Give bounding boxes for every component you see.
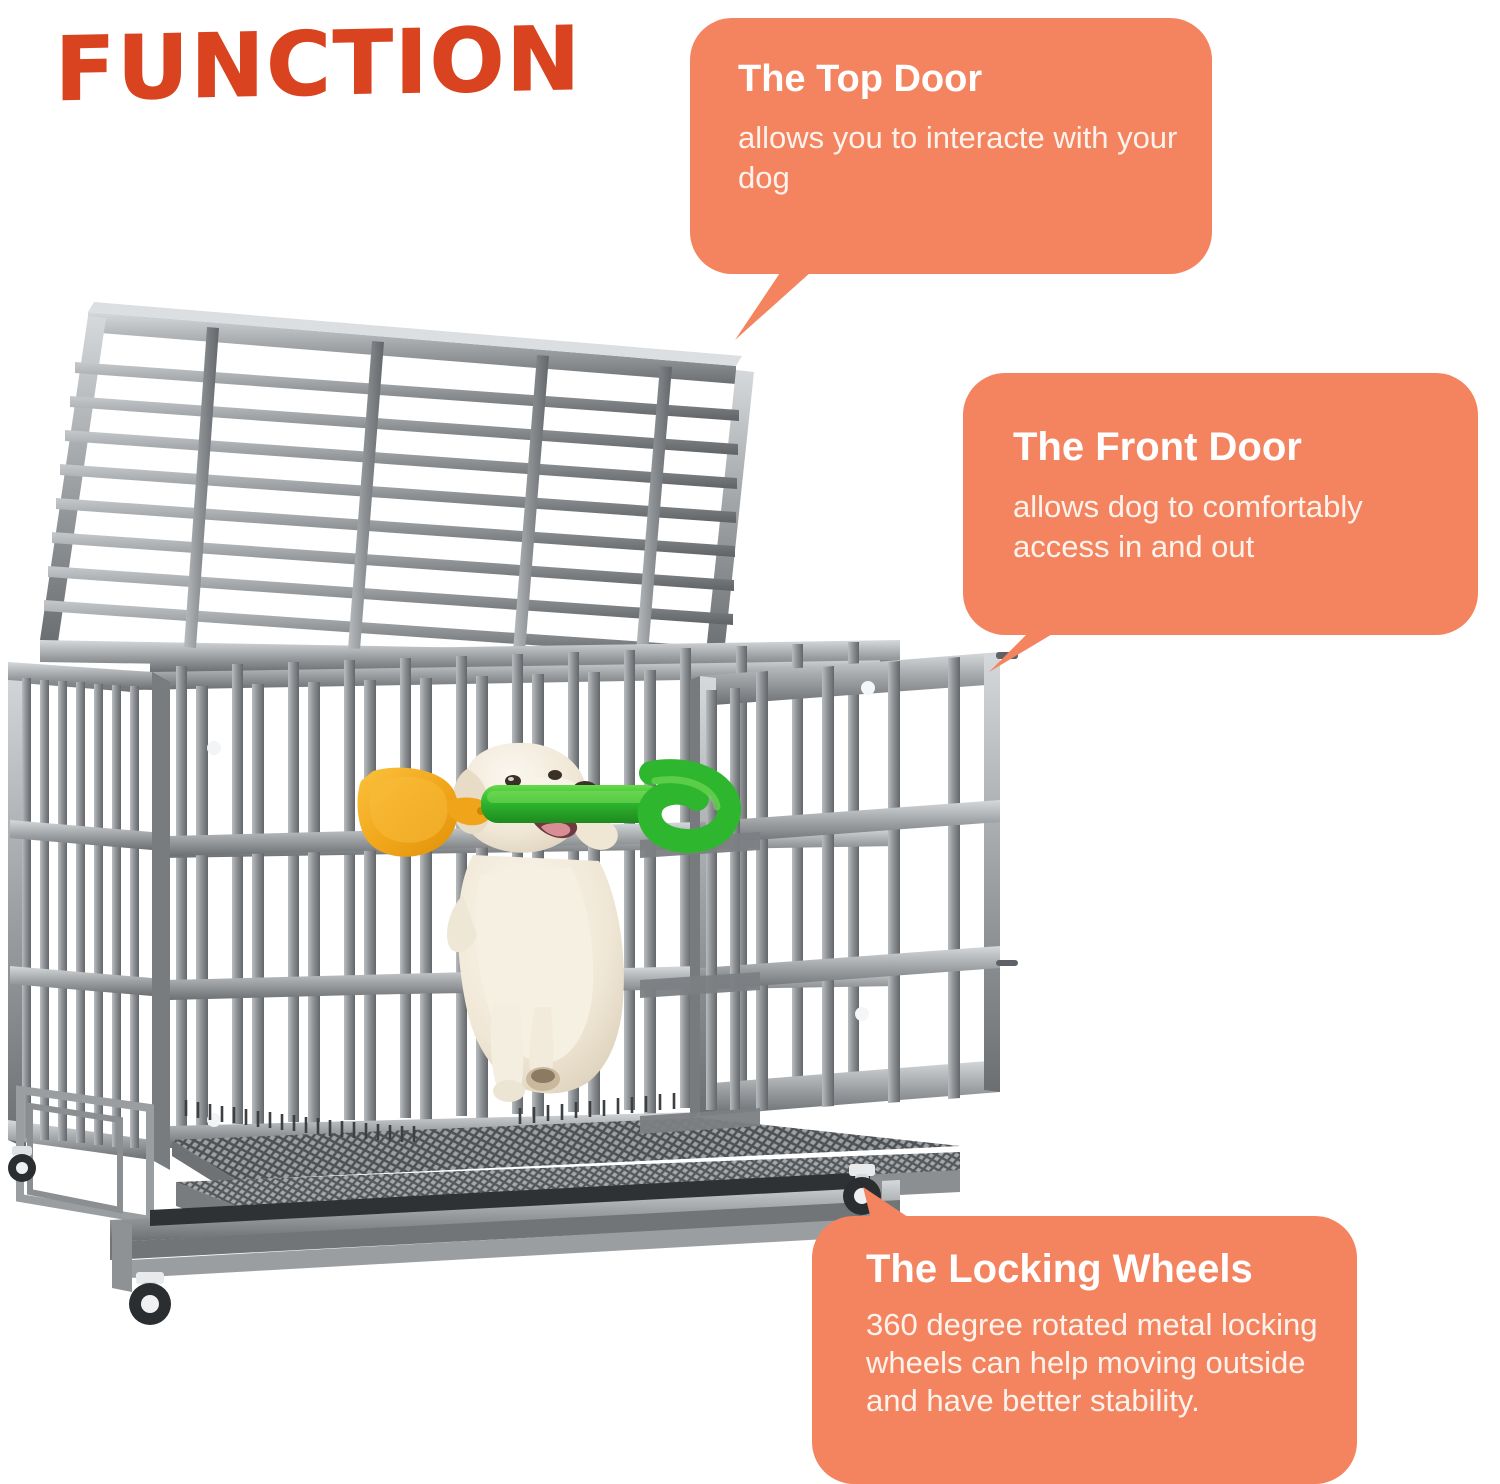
callout-front-door-title: The Front Door xyxy=(1013,423,1452,471)
infographic-canvas: FUNCTION xyxy=(0,0,1500,1484)
dog-body xyxy=(447,855,624,1102)
callout-locking-wheels: The Locking Wheels 360 degree rotated me… xyxy=(812,1216,1357,1484)
top-door-panel xyxy=(40,302,754,672)
callout-front-door: The Front Door allows dog to comfortably… xyxy=(963,373,1478,635)
callout-locking-wheels-body: 360 degree rotated metal locking wheels … xyxy=(866,1306,1337,1420)
callout-front-door-body: allows dog to comfortably access in and … xyxy=(1013,487,1452,567)
dog-photo xyxy=(355,735,755,1105)
callout-top-door-body: allows you to interacte with your dog xyxy=(738,118,1178,198)
callout-locking-wheels-title: The Locking Wheels xyxy=(866,1244,1337,1294)
callout-top-door-title: The Top Door xyxy=(738,56,1178,102)
page-title: FUNCTION xyxy=(55,10,615,118)
callout-top-door: The Top Door allows you to interacte wit… xyxy=(690,18,1212,274)
